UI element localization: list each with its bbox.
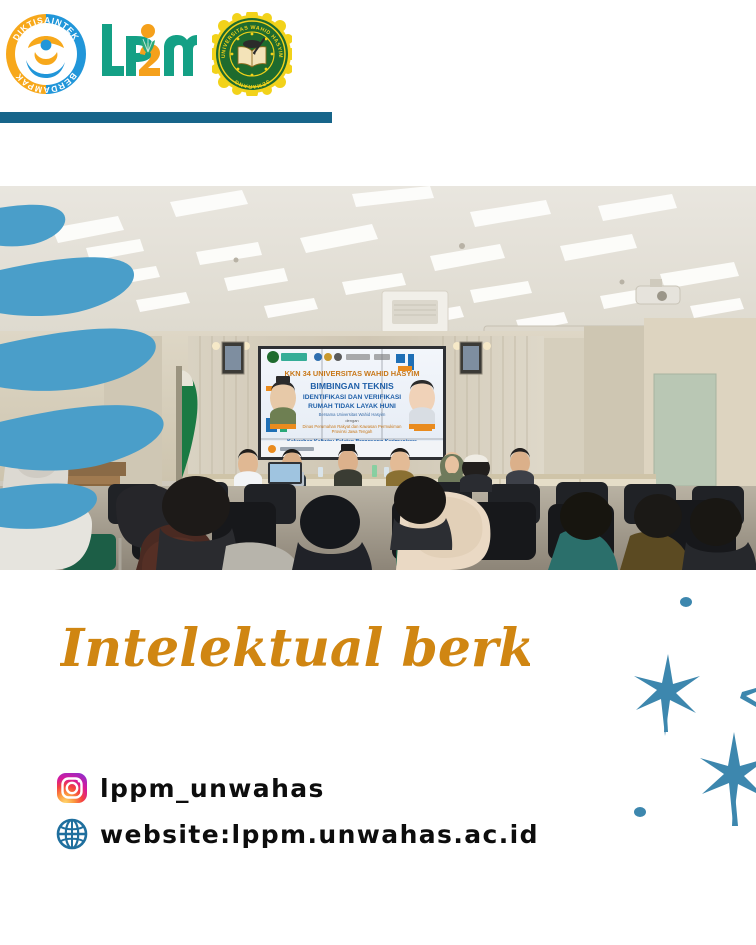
- screen-speaker-right: [409, 380, 435, 429]
- presentation-screen: KKN 34 UNIVERSITAS WAHID HASYIM BIMBINGA…: [258, 346, 446, 460]
- globe-icon[interactable]: [56, 818, 88, 850]
- website-url-label: website:lppm.unwahas.ac.id: [100, 822, 539, 847]
- screen-line-2: dengan: [345, 418, 358, 423]
- decor-dot: [680, 597, 692, 607]
- screen-line-1: Bersama Universitas Wahid Hasyim: [319, 412, 386, 417]
- screen-line-4: Provinsi Jawa Tengah: [332, 429, 373, 434]
- event-photo: KKN 34 UNIVERSITAS WAHID HASYIM BIMBINGA…: [0, 186, 756, 570]
- ac-unit: [382, 291, 448, 333]
- decor-tick: [740, 688, 756, 707]
- event-photo-illustration: KKN 34 UNIVERSITAS WAHID HASYIM BIMBINGA…: [0, 186, 756, 570]
- instagram-icon[interactable]: [56, 772, 88, 804]
- contact-row-website[interactable]: website:lppm.unwahas.ac.id: [56, 812, 676, 856]
- diktisaintek-berdampak-logo: DIKTISAINTEK BERDAMPAK: [4, 12, 88, 96]
- lp2m-logo: [98, 18, 202, 88]
- screen-subtitle-2: RUMAH TIDAK LAYAK HUNI: [308, 403, 396, 410]
- screen-title: BIMBINGAN TEKNIS: [310, 381, 394, 391]
- contact-list: lppm_unwahas website:lppm.unwahas.ac.id: [56, 766, 676, 858]
- diktisaintek-inner-disc: [15, 23, 77, 85]
- tagline-script: Intelektual berkarakter: [60, 612, 530, 686]
- sparkle-icon: [634, 654, 700, 736]
- tagline-text: Intelektual berkarakter: [60, 618, 530, 679]
- screen-subtitle-1: IDENTIFIKASI DAN VERIFIKASI: [303, 394, 401, 401]
- header-logo-bar: DIKTISAINTEK BERDAMPAK: [0, 0, 756, 110]
- header-divider-rule: [0, 112, 332, 123]
- screen-heading: KKN 34 UNIVERSITAS WAHID HASYIM: [285, 369, 420, 378]
- contact-row-instagram[interactable]: lppm_unwahas: [56, 766, 676, 810]
- universitas-wahid-hasyim-logo: UNIVERSITAS WAHID HASYIM SEMARANG: [212, 12, 292, 96]
- laptop: [268, 462, 302, 484]
- sparkle-icon: [700, 732, 756, 826]
- instagram-handle-label: lppm_unwahas: [100, 776, 325, 801]
- lp2m-wordmark: [102, 24, 197, 76]
